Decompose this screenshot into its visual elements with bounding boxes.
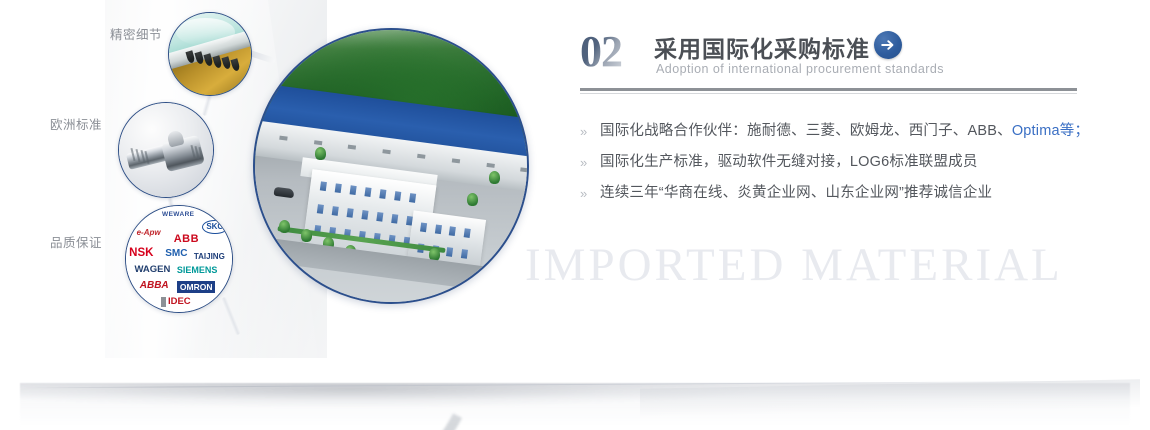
bubble-precision-detail[interactable] bbox=[168, 12, 252, 96]
bullet-list: » 国际化战略合作伙伴：施耐德、三菱、欧姆龙、西门子、ABB、Optima等； … bbox=[578, 116, 1078, 209]
logo-wagen: WAGEN bbox=[134, 265, 170, 275]
bullet-text: 连续三年“华商在线、炎黄企业网、山东企业网”推荐诚信企业 bbox=[600, 185, 992, 201]
logo-siemens: SIEMENS bbox=[177, 266, 218, 275]
bullet-item-3: » 连续三年“华商在线、炎黄企业网、山东企业网”推荐诚信企业 bbox=[578, 178, 1078, 209]
bullet-text: 国际化战略合作伙伴：施耐德、三菱、欧姆龙、西门子、ABB、 bbox=[600, 123, 1012, 139]
logo-sko: SKO bbox=[202, 220, 227, 234]
logo-eapw: e-Apw bbox=[137, 229, 161, 237]
chevron-double-right-icon: » bbox=[580, 147, 587, 178]
brand-logo-cloud: WEWARE SKO e-Apw ABB NSK SMC TAIJING WAG… bbox=[126, 206, 232, 312]
tree bbox=[467, 193, 478, 206]
logo-smc: SMC bbox=[165, 249, 187, 259]
logo-taijing: TAIJING bbox=[194, 253, 225, 261]
tree bbox=[315, 147, 326, 160]
chevron-double-right-icon: » bbox=[580, 116, 587, 147]
content-column: 02 采用国际化采购标准 Adoption of international p… bbox=[578, 0, 1138, 430]
bullet-item-1: » 国际化战略合作伙伴：施耐德、三菱、欧姆龙、西门子、ABB、Optima等； bbox=[578, 116, 1078, 147]
bubble-european-standard[interactable] bbox=[118, 102, 214, 198]
section-subtitle: Adoption of international procurement st… bbox=[656, 62, 944, 76]
chevron-double-right-icon: » bbox=[580, 178, 587, 209]
label-precision-detail: 精密细节 bbox=[110, 24, 162, 43]
logo-nsk: NSK bbox=[129, 248, 153, 260]
tree bbox=[301, 229, 312, 242]
section-number: 02 bbox=[580, 26, 622, 77]
divider-thick bbox=[580, 88, 1077, 91]
bullet-text: 国际化生产标准，驱动软件无缝对接，LOG6标准联盟成员 bbox=[600, 154, 978, 170]
logo-weware: WEWARE bbox=[162, 212, 194, 219]
gloss-highlight bbox=[176, 18, 235, 46]
promo-banner: 精密细节 欧洲标准 品质保证 WEWARE SKO e-Apw ABB bbox=[0, 0, 1150, 430]
bullet-item-2: » 国际化生产标准，驱动软件无缝对接，LOG6标准联盟成员 bbox=[578, 147, 1078, 178]
section-title: 采用国际化采购标准 bbox=[654, 30, 870, 64]
logo-idec: IDEC bbox=[161, 297, 191, 307]
logo-omron: OMRON bbox=[177, 281, 216, 293]
bubble-factory-aerial[interactable] bbox=[253, 28, 529, 304]
arrow-right-circle-icon[interactable] bbox=[874, 31, 902, 59]
label-quality-guarantee: 品质保证 bbox=[50, 232, 102, 251]
divider-thin bbox=[580, 93, 1077, 94]
logo-abba: ABBA bbox=[140, 281, 169, 291]
watermark-text: IMPORTED MATERIAL bbox=[525, 238, 1063, 292]
bullet-highlight: Optima等； bbox=[1012, 123, 1089, 139]
label-european-standard: 欧洲标准 bbox=[50, 114, 102, 133]
bubble-quality-brands[interactable]: WEWARE SKO e-Apw ABB NSK SMC TAIJING WAG… bbox=[125, 205, 233, 313]
tree bbox=[489, 171, 500, 184]
logo-abb: ABB bbox=[174, 234, 199, 245]
